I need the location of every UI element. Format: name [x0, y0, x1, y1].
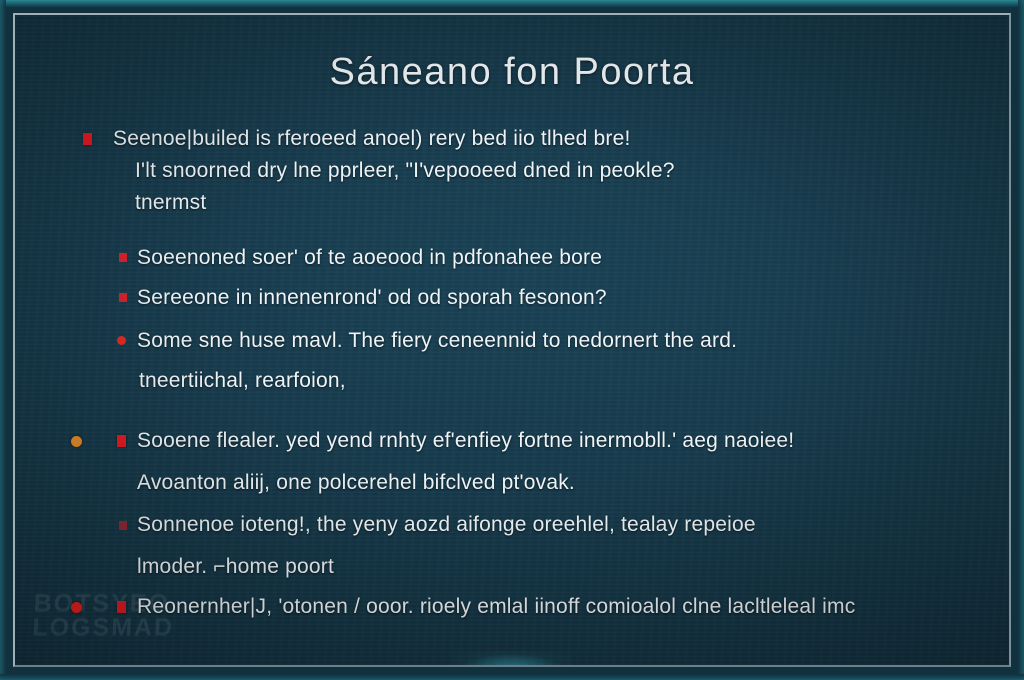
- square-bullet-icon: [119, 253, 127, 262]
- bullet-line: Sereeone in innenenrond' od od sporah fe…: [137, 278, 1009, 318]
- slide-title: Sáneano fon Poorta: [15, 51, 1009, 94]
- bullet-line: tneertiichal, rearfoion,: [137, 361, 1009, 401]
- square-bullet-icon: [119, 521, 127, 530]
- bullet-line: Sonnenoe ioteng!, the yeny aozd aifonge …: [137, 504, 1009, 546]
- top-edge-accent: [0, 0, 1024, 7]
- bullet-block-6: Sonnenoe ioteng!, the yeny aozd aifonge …: [15, 504, 1009, 588]
- bullet-line: Some sne huse mavl. The fiery ceneennid …: [137, 321, 1009, 361]
- dot-bullet-orange-icon: [71, 436, 82, 447]
- bullet-line: Soeenoned soer' of te aoeood in pdfonahe…: [137, 238, 1009, 278]
- left-edge-accent: [0, 0, 6, 680]
- bullet-line: Sooene flealer. yed yend rnhty ef'enfiey…: [137, 420, 1009, 462]
- bottom-edge-accent: [0, 674, 1024, 680]
- slide-frame: BOTSYEOLOGSMAD Sáneano fon Poorta Seenoe…: [13, 13, 1011, 667]
- slide-root: BOTSYEOLOGSMAD Sáneano fon Poorta Seenoe…: [0, 0, 1024, 680]
- bullet-block-1: Seenoe|builed is rferoeed anoel) rery be…: [15, 123, 1009, 219]
- square-bullet-icon: [119, 293, 127, 302]
- bullet-block-3: Sereeone in innenenrond' od od sporah fe…: [15, 278, 1009, 318]
- dot-bullet-icon: [117, 336, 126, 345]
- bullet-block-7: Reonernher|J, 'otonen / ooor. rioely eml…: [15, 586, 1009, 628]
- bullet-line: I'lt snoorned dry lne pprleer, "I'vepooe…: [113, 155, 1009, 187]
- bullet-line: Seenoe|builed is rferoeed anoel) rery be…: [113, 123, 1009, 155]
- bullet-block-5: Sooene flealer. yed yend rnhty ef'enfiey…: [15, 420, 1009, 504]
- right-edge-accent: [1018, 0, 1024, 680]
- square-bullet-icon: [83, 133, 92, 145]
- bullet-block-4: Some sne huse mavl. The fiery ceneennid …: [15, 321, 1009, 401]
- dot-bullet-icon: [71, 602, 82, 613]
- slide-content: Sáneano fon Poorta Seenoe|builed is rfer…: [15, 15, 1009, 665]
- bullet-block-2: Soeenoned soer' of te aoeood in pdfonahe…: [15, 238, 1009, 278]
- bullet-line: Reonernher|J, 'otonen / ooor. rioely eml…: [137, 586, 1009, 628]
- bullet-line: lmoder. ⌐home poort: [137, 546, 1009, 588]
- square-bullet-icon: [117, 435, 126, 447]
- bullet-line: Avoanton aliĳ, one polcerehel bifclved p…: [137, 462, 1009, 504]
- bullet-line: tnermst: [113, 187, 1009, 219]
- square-bullet-icon: [117, 601, 126, 613]
